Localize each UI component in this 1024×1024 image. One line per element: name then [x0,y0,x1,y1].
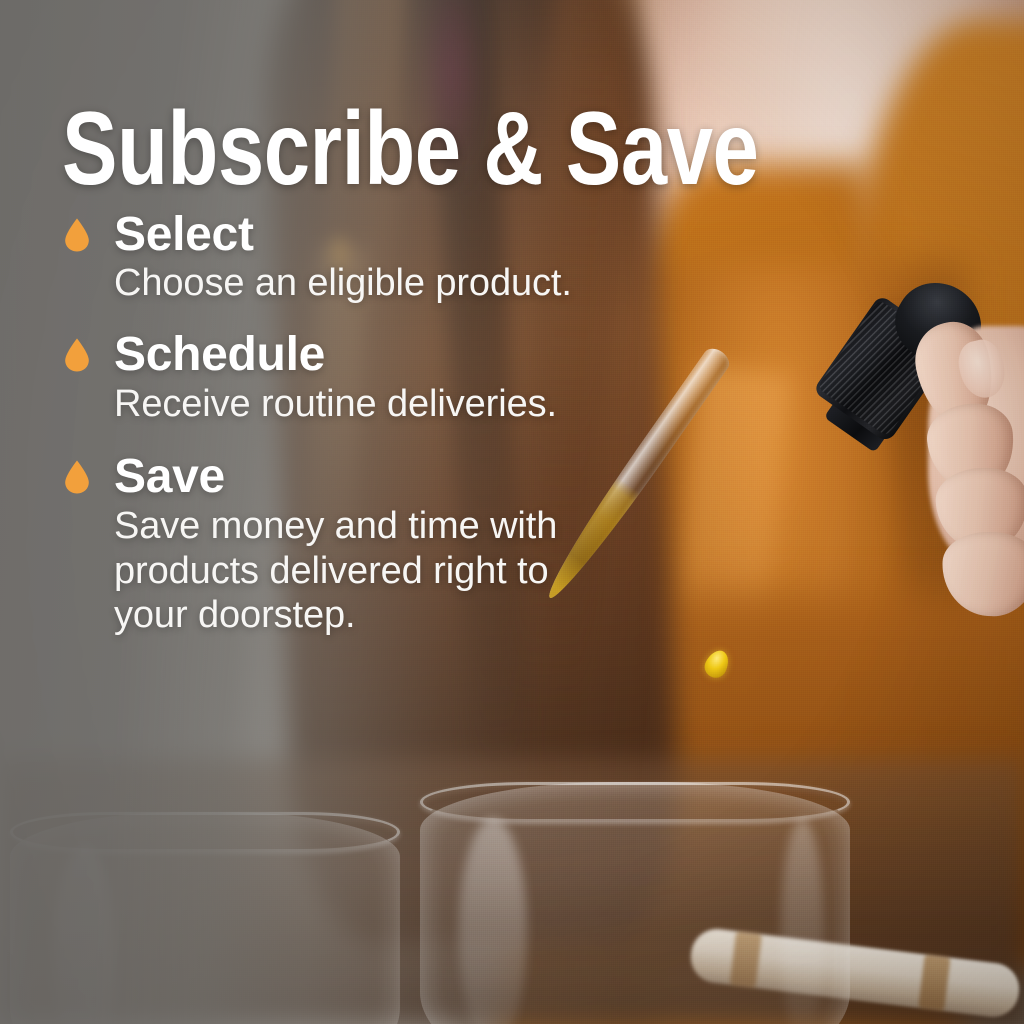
wine-glass-right [420,782,850,1024]
oil-droplet [701,647,733,682]
page-title: Subscribe & Save [62,104,622,196]
glass-highlight [459,818,528,1024]
water-drop-icon [64,218,90,252]
glass-rim [10,812,400,852]
step-item-save: Save Save money and time with products d… [62,452,762,637]
subscribe-and-save-poster: Subscribe & Save Select Choose an eligib… [0,0,1024,1024]
step-title: Save [114,452,762,502]
wine-glass-left [10,812,400,1024]
step-description: Choose an eligible product. [114,261,584,305]
promo-content: Subscribe & Save Select Choose an eligib… [62,104,762,638]
glass-highlight [781,818,824,1024]
step-title: Select [114,210,762,260]
glass-rim [420,782,850,822]
steps-list: Select Choose an eligible product. Sched… [62,210,762,638]
step-item-select: Select Choose an eligible product. [62,210,762,306]
glass-highlight [53,846,115,1024]
step-item-schedule: Schedule Receive routine deliveries. [62,330,762,426]
finger-pinky [940,530,1024,619]
step-description: Receive routine deliveries. [114,382,584,426]
water-drop-icon [64,460,90,494]
cork-band [918,954,950,1011]
step-description: Save money and time with products delive… [114,504,584,637]
water-drop-icon [64,338,90,372]
step-title: Schedule [114,330,762,380]
